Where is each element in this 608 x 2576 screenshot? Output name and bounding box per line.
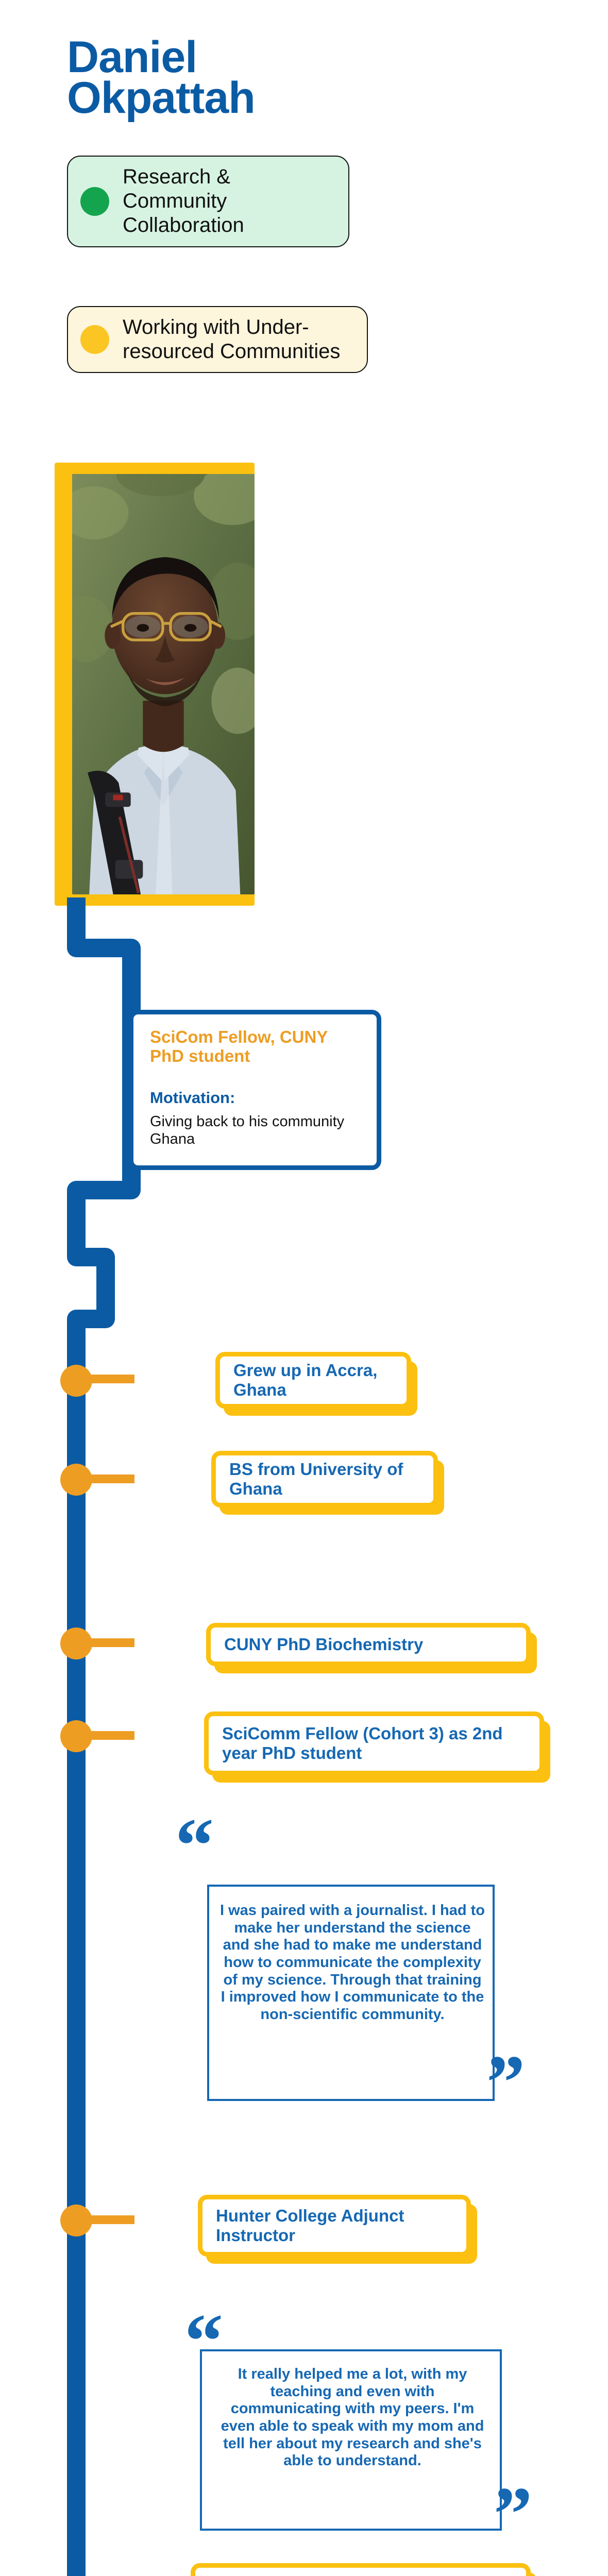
title-line-last: Okpattah (67, 78, 397, 118)
intro-card: SciCom Fellow, CUNY PhD student Motivati… (129, 1010, 381, 1170)
tag-label: Research & Community Collaboration (123, 165, 334, 238)
milestone-card-cuny-phd: CUNY PhD Biochemistry (206, 1623, 531, 1666)
rail-connector-path (76, 907, 131, 2576)
milestone-label: SciComm Fellow (Cohort 3) as 2nd year Ph… (222, 1724, 526, 1762)
milestone-label: BS from University of Ghana (229, 1460, 420, 1498)
quote-close-mark: ” (486, 2056, 523, 2110)
milestone-card-grew-up: Grew up in Accra, Ghana (215, 1352, 411, 1409)
tag-research-community-collaboration: Research & Community Collaboration (67, 156, 349, 247)
motivation-heading: Motivation: (150, 1089, 362, 1107)
page-title: Daniel Okpattah (67, 37, 397, 118)
portrait-photo (72, 474, 255, 894)
yellow-dot-icon (80, 325, 109, 354)
rail-vertical (67, 1319, 86, 2576)
tag-label: Working with Under-resourced Communities (123, 315, 352, 364)
milestone-label: Hunter College Adjunct Instructor (216, 2206, 453, 2245)
motivation-text: Giving back to his community Ghana (150, 1113, 362, 1148)
milestone-label: CUNY PhD Biochemistry (224, 1635, 423, 1654)
title-line-first: Daniel (67, 37, 397, 78)
quote-text: It really helped me a lot, with my teach… (213, 2366, 492, 2470)
quote-open-mark: “ (175, 1819, 212, 1873)
tag-working-with-under-resourced-communities: Working with Under-resourced Communities (67, 306, 368, 373)
quote-block-1: “ I was paired with a journalist. I had … (175, 1788, 536, 2107)
milestone-card-scicomm-fellow: SciComm Fellow (Cohort 3) as 2nd year Ph… (204, 1711, 544, 1775)
quote-close-mark: ” (494, 2487, 530, 2541)
quote-text: I was paired with a journalist. I had to… (219, 1902, 485, 2023)
milestone-label: Grew up in Accra, Ghana (233, 1361, 393, 1399)
milestone-connectors (60, 1365, 134, 2576)
milestone-card-bs-degree: BS from University of Ghana (211, 1451, 438, 1507)
milestone-card-hunter-college: Hunter College Adjunct Instructor (198, 2195, 471, 2257)
milestone-card-graduate-research-assistant: Graduate Research Assistant Memorial Slo… (191, 2563, 531, 2576)
intro-role-label: SciCom Fellow, CUNY PhD student (150, 1028, 362, 1066)
green-dot-icon (80, 187, 109, 216)
quote-block-2: “ It really helped me a lot, with my tea… (175, 2283, 536, 2541)
timeline-rail (0, 0, 608, 2576)
portrait-frame (55, 463, 255, 906)
